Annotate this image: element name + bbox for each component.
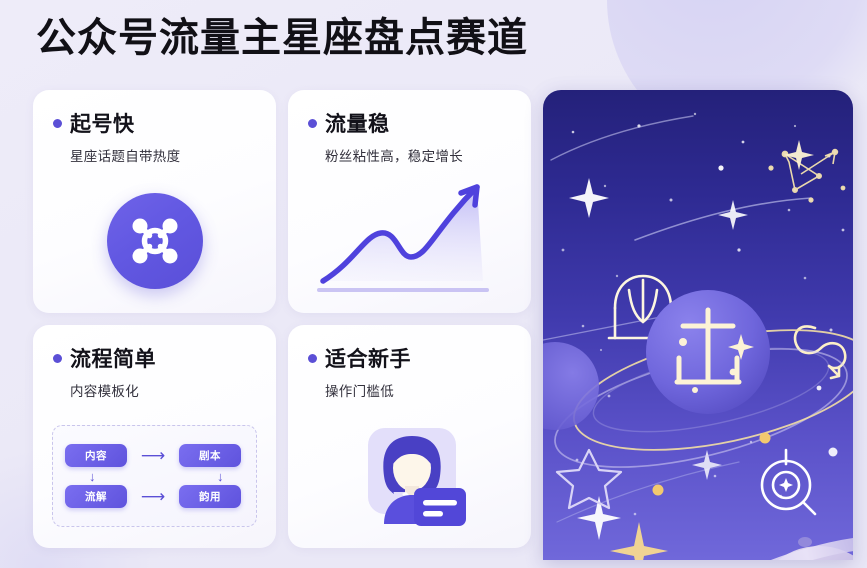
card-subtitle: 操作门槛低 <box>325 380 511 400</box>
flow-arrow-down-right: ↓ <box>217 470 224 483</box>
flow-arrow-right-bottom: ⟶ <box>141 488 165 505</box>
card-subtitle: 内容模板化 <box>70 380 256 400</box>
card-artwork <box>33 168 276 313</box>
user-avatar-card-icon <box>344 424 476 528</box>
target-crosshair-icon <box>762 450 815 514</box>
flow-diagram-icon: 内容 ⟶ 剧本 流解 ⟶ 韵用 ↓ ↓ <box>52 425 257 527</box>
feature-card-liuchengjiandan[interactable]: 流程简单 内容模板化 内容 ⟶ 剧本 流解 ⟶ 韵用 ↓ ↓ <box>33 325 276 548</box>
flow-arrow-right-top: ⟶ <box>141 447 165 464</box>
growth-arrow-chart-icon <box>307 173 512 301</box>
bullet-dot-icon <box>53 354 62 363</box>
bullet-dot-icon <box>308 354 317 363</box>
poster-root: 公众号流量主星座盘点赛道 起号快 星座话题自带热度 <box>0 0 867 568</box>
card-title: 适合新手 <box>325 343 411 373</box>
flow-node-2: 剧本 <box>179 444 241 467</box>
feature-card-qihaokuai[interactable]: 起号快 星座话题自带热度 <box>33 90 276 313</box>
network-nodes-icon <box>107 193 203 289</box>
target-center-spark <box>779 478 793 492</box>
card-title: 流量稳 <box>325 108 390 138</box>
card-header: 适合新手 <box>308 343 511 373</box>
card-title: 流程简单 <box>70 343 156 373</box>
card-subtitle: 星座话题自带热度 <box>70 145 256 165</box>
sagittarius-constellation <box>769 150 844 202</box>
bullet-dot-icon <box>53 119 62 128</box>
card-header: 流量稳 <box>308 108 511 138</box>
card-header: 起号快 <box>53 108 256 138</box>
feature-card-grid: 起号快 星座话题自带热度 <box>33 90 531 550</box>
card-subtitle: 粉丝粘性高，稳定增长 <box>325 145 511 165</box>
feature-card-shihexinshou[interactable]: 适合新手 操作门槛低 <box>288 325 531 548</box>
orbit-node-dot <box>829 448 838 457</box>
card-title: 起号快 <box>70 108 135 138</box>
orbit-node-dot <box>760 433 771 444</box>
flow-node-1: 内容 <box>65 444 127 467</box>
card-artwork <box>288 403 531 548</box>
flow-node-4: 韵用 <box>179 485 241 508</box>
card-artwork: 内容 ⟶ 剧本 流解 ⟶ 韵用 ↓ ↓ <box>33 403 276 548</box>
flow-node-3: 流解 <box>65 485 127 508</box>
bullet-dot-icon <box>308 119 317 128</box>
planet-with-rings <box>715 528 853 560</box>
starry-zodiac-illustration <box>543 90 853 560</box>
orbit-node-dot <box>653 485 664 496</box>
feature-card-liuliangwen[interactable]: 流量稳 粉丝粘性高，稳定增长 <box>288 90 531 313</box>
left-edge-planet <box>543 342 599 430</box>
gold-sparkle-stars <box>610 522 756 560</box>
page-title: 公众号流量主星座盘点赛道 <box>36 14 528 62</box>
flow-arrow-down-left: ↓ <box>89 470 96 483</box>
card-header: 流程简单 <box>53 343 256 373</box>
card-artwork <box>288 168 531 313</box>
